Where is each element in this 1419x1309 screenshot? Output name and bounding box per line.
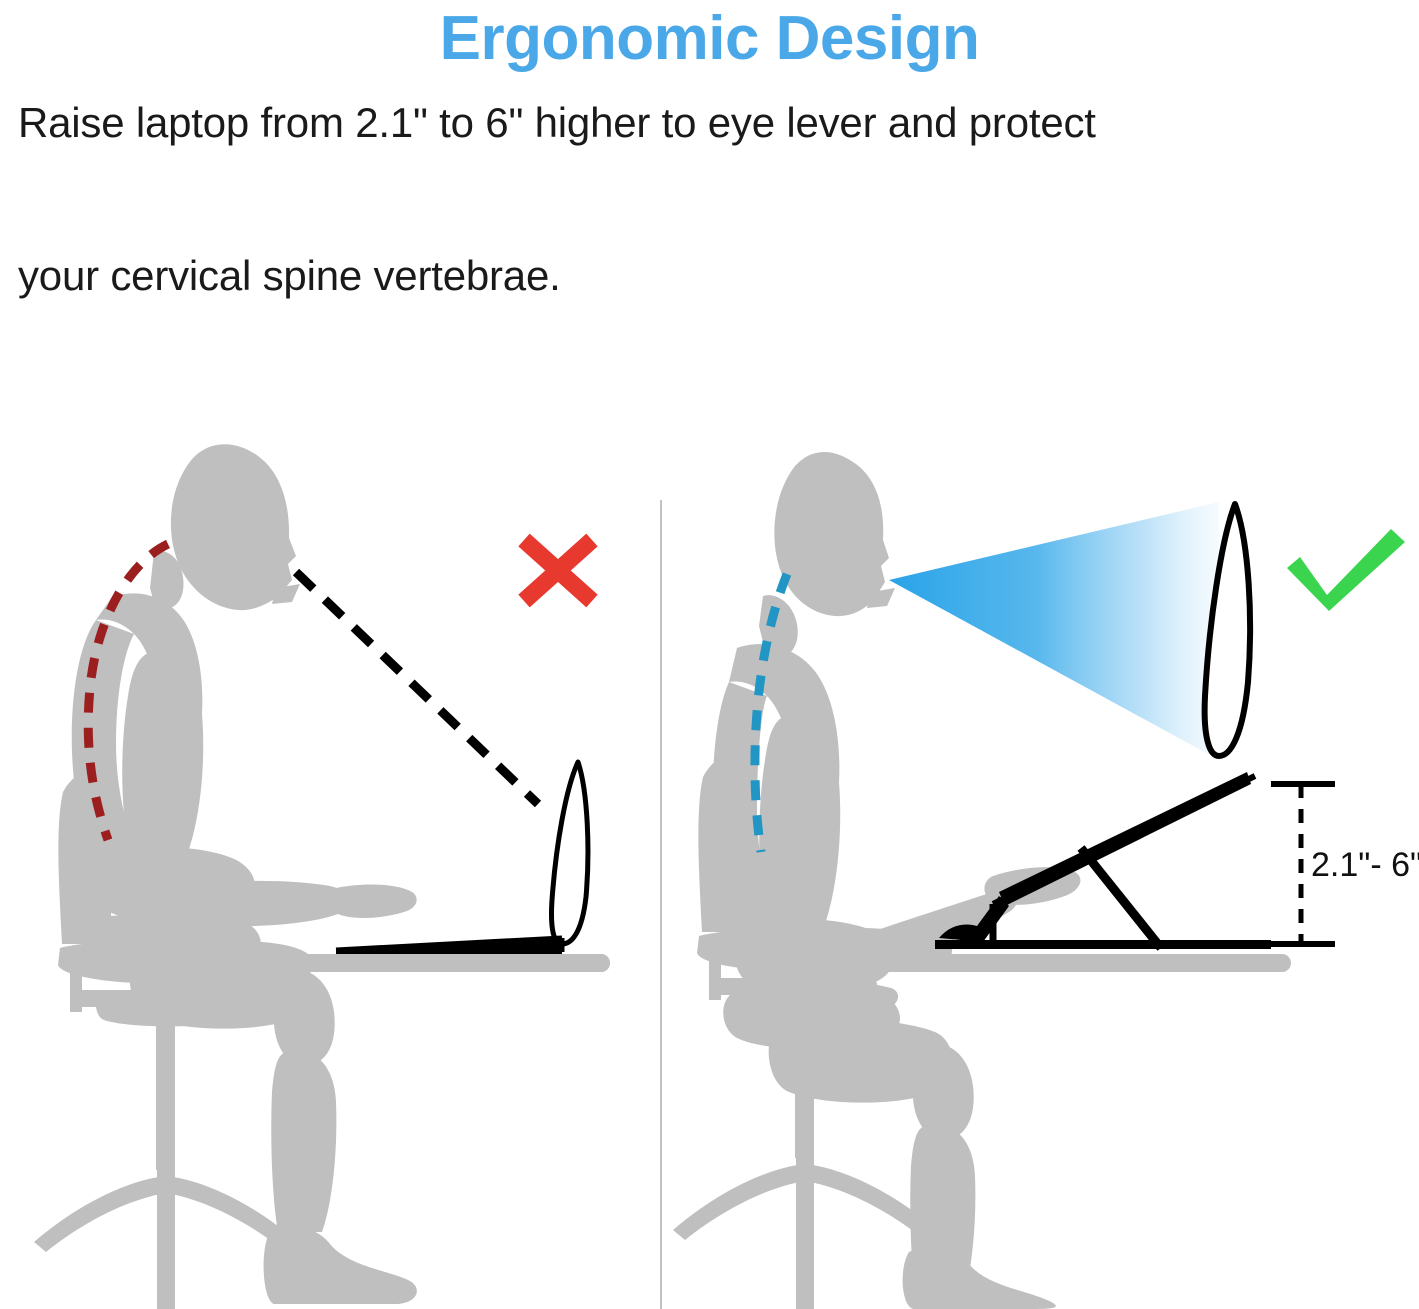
illustration-area: 2.1"- 6"	[0, 352, 1419, 1309]
sight-line-incorrect	[296, 572, 538, 804]
header-block: Ergonomic Design Raise laptop from 2.1" …	[0, 0, 1419, 169]
desk-surface-good	[871, 954, 1291, 972]
laptop-flat-on-desk	[336, 762, 588, 952]
desk-surface-bad-2	[232, 954, 610, 972]
person-hunched-silhouette	[72, 444, 417, 1304]
page-title: Ergonomic Design	[0, 0, 1419, 76]
intro-text-line-2: your cervical spine vertebrae.	[0, 246, 1419, 306]
vision-cone	[889, 502, 1219, 760]
panel-correct-posture: 2.1"- 6"	[663, 352, 1419, 1309]
ergonomic-design-infographic: Ergonomic Design Raise laptop from 2.1" …	[0, 0, 1419, 1309]
panel-incorrect-posture	[0, 352, 661, 1309]
cross-mark-icon	[524, 540, 592, 601]
check-mark-icon	[1287, 529, 1405, 611]
intro-text-line-1: Raise laptop from 2.1" to 6" higher to e…	[0, 76, 1419, 169]
height-dimension-label: 2.1"- 6"	[1311, 846, 1419, 884]
